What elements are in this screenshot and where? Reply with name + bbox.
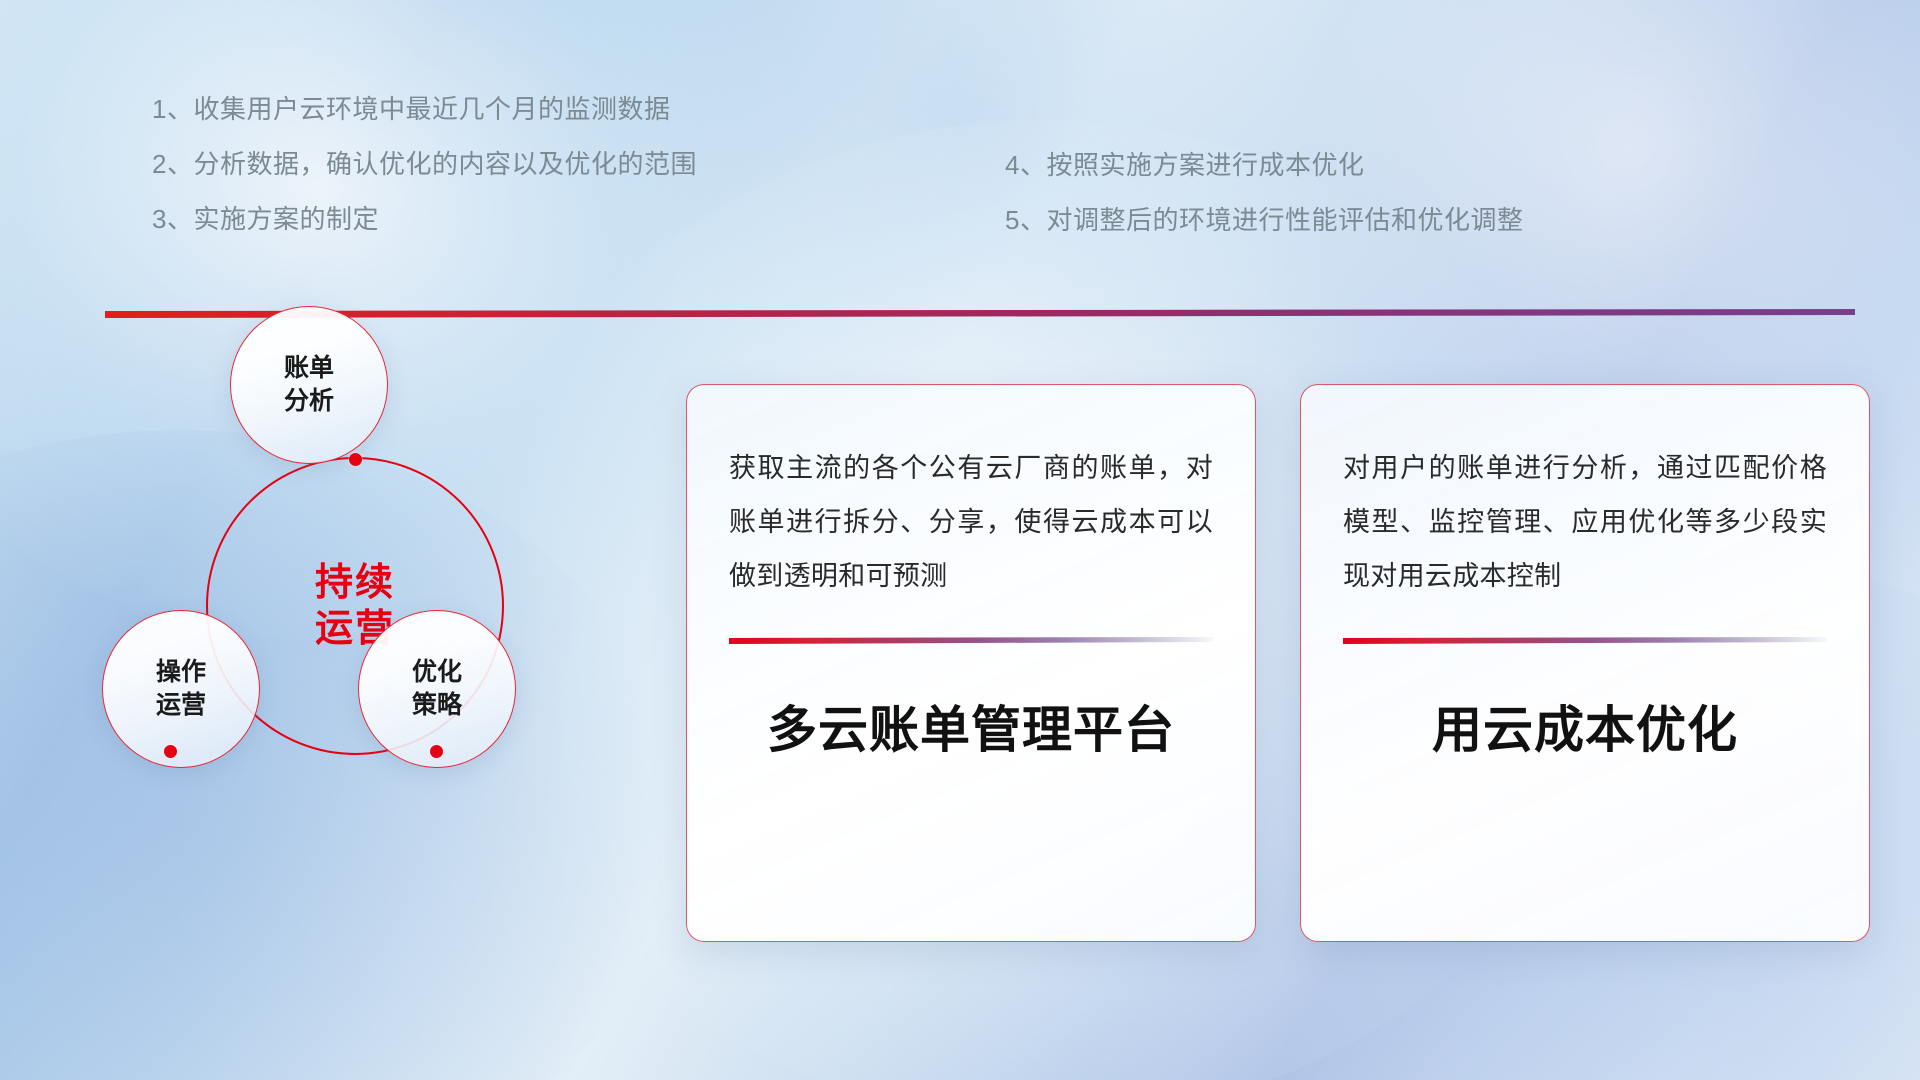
- step-item-5: 5、对调整后的环境进行性能评估和优化调整: [1005, 207, 1523, 233]
- venn-bubble-billing-analysis[interactable]: 账单 分析: [230, 306, 388, 464]
- steps-left-column: 1、收集用户云环境中最近几个月的监测数据 2、分析数据，确认优化的内容以及优化的…: [152, 96, 697, 232]
- step-item-1: 1、收集用户云环境中最近几个月的监测数据: [152, 96, 697, 122]
- venn-diagram: 持续 运营 账单 分析 操作 运营 优化 策略: [96, 330, 566, 940]
- section-divider: [105, 309, 1855, 318]
- feature-card-billing-platform[interactable]: 获取主流的各个公有云厂商的账单，对账单进行拆分、分享，使得云成本可以做到透明和可…: [686, 384, 1256, 942]
- feature-card-cost-optimization[interactable]: 对用户的账单进行分析，通过匹配价格模型、监控管理、应用优化等多少段实现对用云成本…: [1300, 384, 1870, 942]
- venn-bubble-top-line1: 账单: [284, 352, 334, 385]
- feature-card-1-title: 多云账单管理平台: [729, 690, 1213, 762]
- venn-bubble-right-line2: 策略: [412, 689, 462, 722]
- feature-card-2-title: 用云成本优化: [1343, 690, 1827, 762]
- section-divider-bar: [105, 309, 1855, 318]
- feature-card-2-body: 对用户的账单进行分析，通过匹配价格模型、监控管理、应用优化等多少段实现对用云成本…: [1343, 441, 1827, 603]
- venn-bubble-top-text: 账单 分析: [284, 352, 334, 418]
- venn-node-dot-top: [349, 453, 362, 466]
- venn-bubble-right-text: 优化 策略: [412, 656, 462, 722]
- venn-bubble-top-line2: 分析: [284, 385, 334, 418]
- venn-bubble-right-line1: 优化: [412, 656, 462, 689]
- venn-bubble-left-line2: 运营: [156, 689, 206, 722]
- feature-card-1-body: 获取主流的各个公有云厂商的账单，对账单进行拆分、分享，使得云成本可以做到透明和可…: [729, 441, 1213, 603]
- slide-root: 1、收集用户云环境中最近几个月的监测数据 2、分析数据，确认优化的内容以及优化的…: [0, 0, 1920, 1080]
- venn-bubble-left-text: 操作 运营: [156, 656, 206, 722]
- step-item-4: 4、按照实施方案进行成本优化: [1005, 152, 1523, 178]
- venn-node-dot-right: [430, 745, 443, 758]
- feature-card-2-rule: [1343, 637, 1827, 644]
- steps-right-column: 4、按照实施方案进行成本优化 5、对调整后的环境进行性能评估和优化调整: [1005, 152, 1523, 233]
- venn-node-dot-left: [164, 745, 177, 758]
- venn-center-label-line1: 持续: [315, 560, 395, 606]
- step-item-3: 3、实施方案的制定: [152, 206, 697, 232]
- venn-bubble-left-line1: 操作: [156, 656, 206, 689]
- venn-bubble-operations[interactable]: 操作 运营: [102, 610, 260, 768]
- feature-card-1-rule: [729, 637, 1213, 644]
- step-item-2: 2、分析数据，确认优化的内容以及优化的范围: [152, 151, 697, 177]
